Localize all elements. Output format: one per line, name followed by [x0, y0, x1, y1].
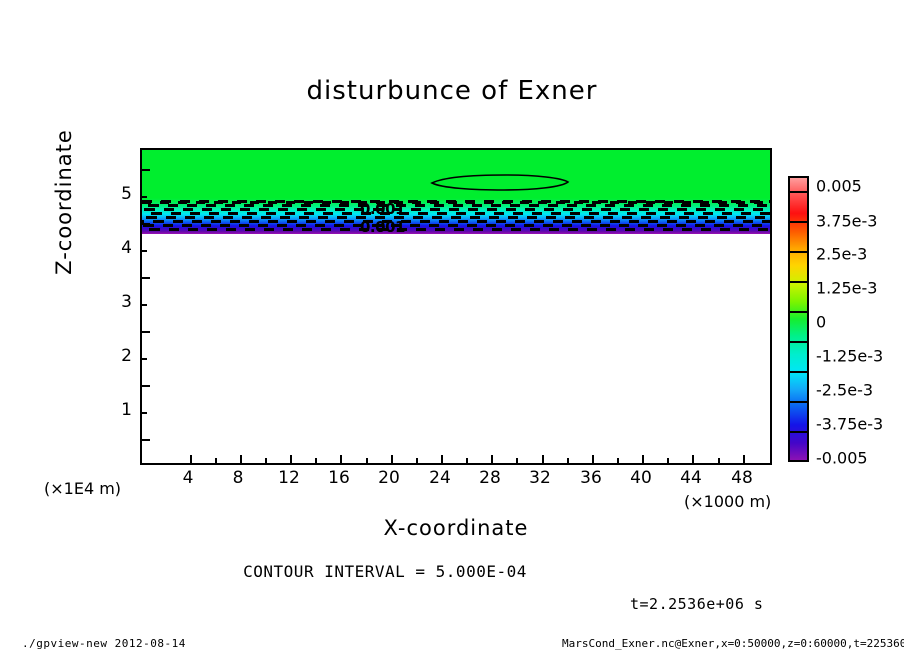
x-axis-tick — [617, 458, 619, 463]
x-tick-label: 44 — [680, 468, 702, 488]
x-axis-tick — [466, 458, 468, 463]
plot-area: 0.001 0.001 — [140, 148, 772, 465]
x-axis-tick — [416, 458, 418, 463]
x-axis-title: X-coordinate — [140, 516, 772, 540]
y-axis-tick — [142, 412, 147, 414]
colorbar-tick — [788, 341, 809, 343]
colorbar-label: 1.25e-3 — [816, 279, 877, 298]
x-tick-label: 40 — [630, 468, 652, 488]
time-annotation: t=2.2536e+06 s — [630, 595, 763, 613]
colorbar-label: 0.005 — [816, 177, 862, 196]
colorbar-tick — [788, 281, 809, 283]
page-title: disturbunce of Exner — [0, 76, 904, 106]
x-axis-tick — [743, 455, 745, 463]
contour-dash-row — [142, 204, 770, 207]
x-tick-label: 36 — [580, 468, 602, 488]
y-axis-tick — [142, 304, 147, 306]
x-axis-tick — [491, 455, 493, 463]
contour-dash-row — [142, 200, 770, 203]
y-axis-tick — [142, 331, 150, 333]
x-tick-label: 48 — [731, 468, 753, 488]
y-axis-tick — [142, 358, 147, 360]
y-tick-label: 4 — [108, 238, 132, 258]
colorbar-label: -1.25e-3 — [816, 347, 883, 366]
y-axis-tick — [142, 196, 147, 198]
x-axis-tick — [215, 458, 217, 463]
x-axis-tick — [265, 458, 267, 463]
x-tick-label: 4 — [183, 468, 194, 488]
colorbar-tick — [788, 371, 809, 373]
colorbar-tick — [788, 221, 809, 223]
x-axis-tick — [567, 458, 569, 463]
contour-dash-row — [142, 228, 770, 231]
x-axis-tick — [692, 455, 694, 463]
colorbar-label: -0.005 — [816, 449, 868, 468]
x-tick-label: 28 — [479, 468, 501, 488]
contour-interval-annotation: CONTOUR INTERVAL = 5.000E-04 — [0, 562, 770, 581]
y-axis-tick — [142, 277, 150, 279]
x-axis-tick — [542, 455, 544, 463]
y-axis-tick — [142, 169, 150, 171]
footer-dataset-info: MarsCond_Exner.nc@Exner,x=0:50000,z=0:60… — [562, 637, 904, 650]
contour-dash-row — [142, 224, 770, 227]
x-axis-tick — [642, 455, 644, 463]
y-tick-label: 5 — [108, 184, 132, 204]
colorbar-label: 3.75e-3 — [816, 212, 877, 231]
x-tick-label: 32 — [529, 468, 551, 488]
y-tick-label: 3 — [108, 292, 132, 312]
y-axis-tick — [142, 385, 150, 387]
contour-dash-row — [142, 208, 770, 211]
x-axis-tick — [718, 458, 720, 463]
colorbar-label: -2.5e-3 — [816, 381, 873, 400]
x-axis-tick — [315, 458, 317, 463]
contour-dash-row — [142, 216, 770, 219]
colorbar-tick — [788, 251, 809, 253]
colorbar-label: 0 — [816, 313, 826, 332]
x-axis-tick — [190, 455, 192, 463]
contour-dash-row — [142, 212, 770, 215]
contour-value-label: 0.001 — [360, 200, 405, 218]
x-tick-label: 12 — [278, 468, 300, 488]
footer-command-info: ./gpview-new 2012-08-14 — [22, 637, 186, 650]
x-tick-label: 20 — [378, 468, 400, 488]
x-axis-tick — [592, 455, 594, 463]
plot-canvas: 0.001 0.001 — [142, 150, 770, 463]
y-axis-tick — [142, 223, 150, 225]
x-tick-label: 16 — [328, 468, 350, 488]
x-axis-tick — [667, 458, 669, 463]
x-tick-label: 8 — [233, 468, 244, 488]
contour-dashes-group — [142, 198, 770, 234]
colorbar-tick — [788, 191, 809, 193]
colorbar-label: 2.5e-3 — [816, 245, 867, 264]
x-axis-tick — [366, 458, 368, 463]
y-axis-unit-label: (×1E4 m) — [44, 479, 121, 498]
x-axis-tick — [290, 455, 292, 463]
y-axis-tick — [142, 439, 150, 441]
y-tick-label: 2 — [108, 346, 132, 366]
x-axis-tick — [391, 455, 393, 463]
y-axis-title: Z-coordinate — [52, 102, 76, 302]
contour-value-label: 0.001 — [360, 218, 405, 236]
x-tick-label: 24 — [429, 468, 451, 488]
x-axis-unit-label: (×1000 m) — [684, 492, 771, 511]
colorbar-tick — [788, 431, 809, 433]
colorbar — [788, 176, 809, 462]
colorbar-tick — [788, 401, 809, 403]
colorbar-tick — [788, 311, 809, 313]
y-tick-label: 1 — [108, 400, 132, 420]
y-axis-tick — [142, 250, 147, 252]
x-axis-tick — [240, 455, 242, 463]
contour-dash-row — [142, 220, 770, 223]
x-axis-tick — [516, 458, 518, 463]
x-axis-tick — [441, 455, 443, 463]
x-axis-tick — [340, 455, 342, 463]
contour-lens-shape — [430, 174, 570, 191]
colorbar-label: -3.75e-3 — [816, 415, 883, 434]
